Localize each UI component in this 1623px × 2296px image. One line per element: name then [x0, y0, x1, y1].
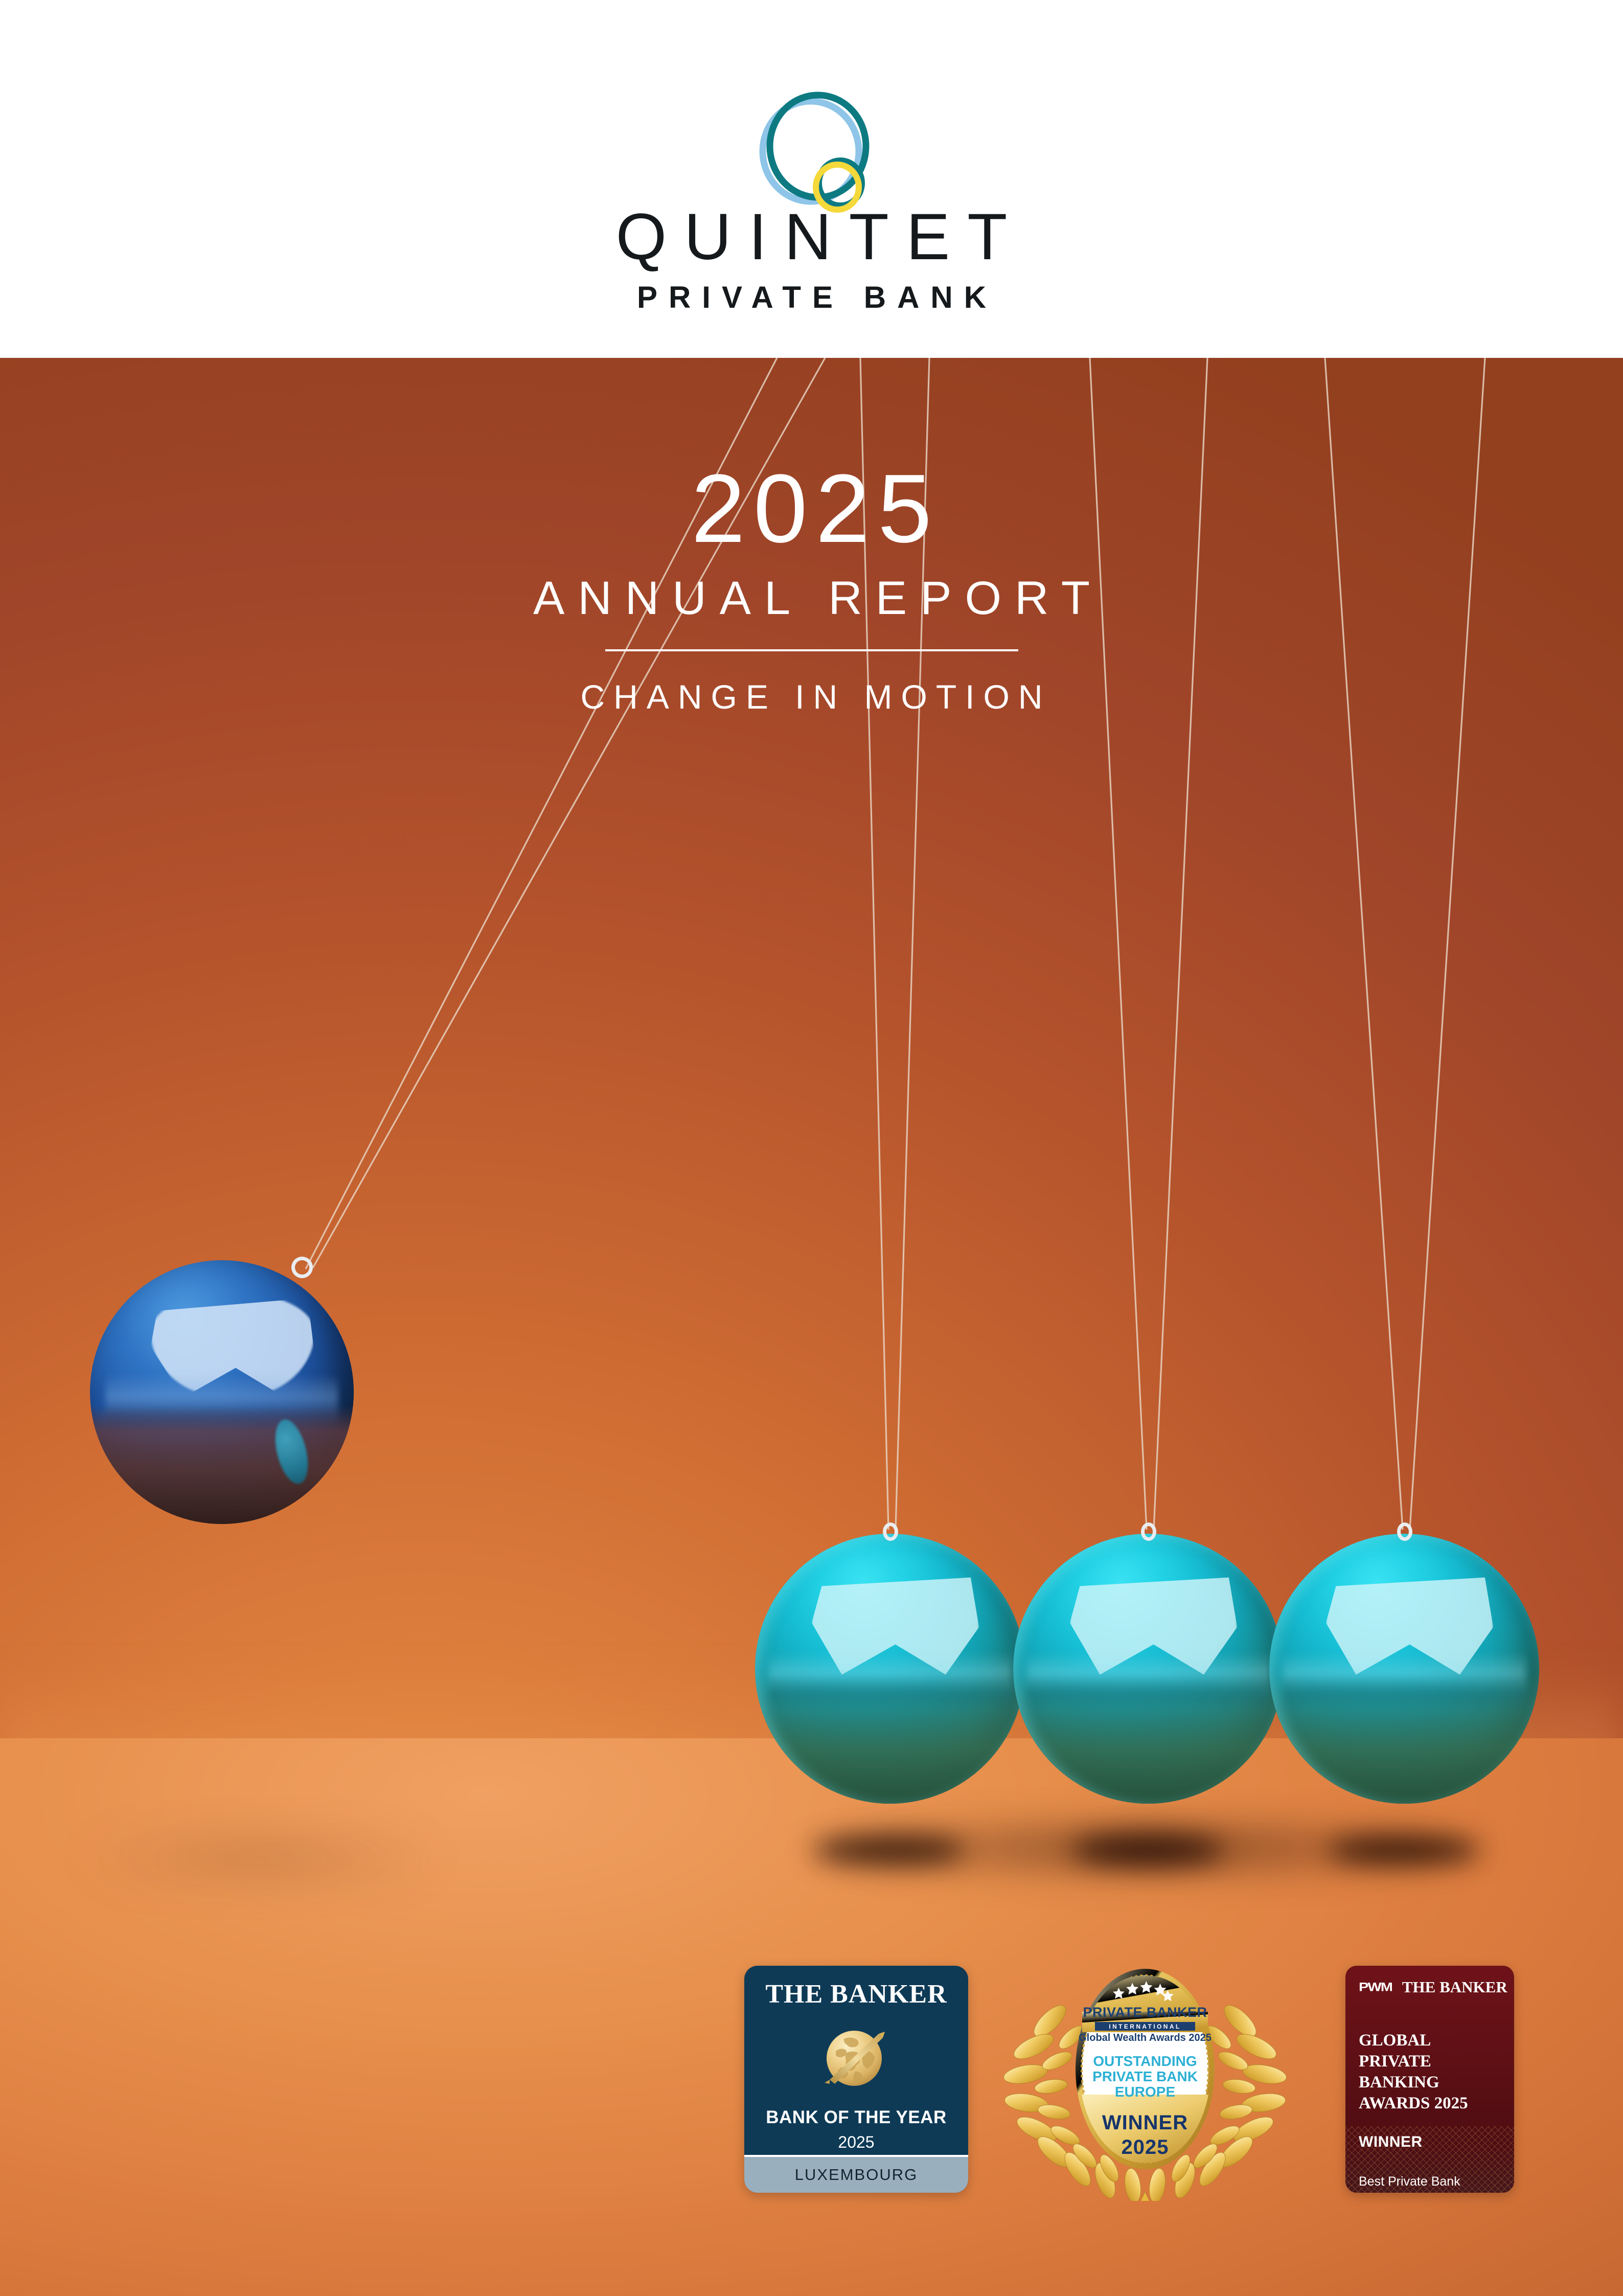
pwm-logo: PWM — [1359, 1980, 1392, 1994]
the-banker-masthead: THE BANKER — [765, 1979, 947, 2009]
ball-rim-light — [755, 1534, 1025, 1804]
brand-wordmark: QUINTET — [0, 204, 1623, 270]
cyan-ball-3 — [1269, 1534, 1539, 1804]
award-badges-row: THE BANKER — [0, 1961, 1623, 2226]
cyan-ball-2 — [1013, 1534, 1283, 1804]
header-band: QUINTET PRIVATE BANK — [0, 0, 1623, 358]
category-line-1: Best Private Bank — [1359, 2173, 1501, 2190]
svg-text:PRIVATE BANKER: PRIVATE BANKER — [1083, 2005, 1207, 2020]
report-subtitle: CHANGE IN MOTION — [0, 680, 1623, 714]
quintet-q-logo-icon — [740, 86, 888, 214]
gold-laurel-medal-icon: PRIVATE BANKER INTERNATIONAL Global Weal… — [997, 1961, 1293, 2201]
the-banker-logo: THE BANKER — [1402, 1978, 1507, 1996]
ball-lower-shade — [90, 1405, 354, 1524]
bank-of-the-year-region: LUXEMBOURG — [744, 2155, 968, 2193]
ball-rim-light — [1269, 1534, 1539, 1804]
ball-shadow-cyan-2 — [1071, 1835, 1224, 1865]
svg-text:PRIVATE BANK: PRIVATE BANK — [1092, 2068, 1198, 2084]
svg-text:OUTSTANDING: OUTSTANDING — [1093, 2053, 1197, 2069]
brand-tagline: PRIVATE BANK — [0, 282, 1623, 313]
report-year: 2025 — [0, 460, 1623, 557]
cover-title-block: 2025 ANNUAL REPORT CHANGE IN MOTION — [0, 460, 1623, 714]
report-title: ANNUAL REPORT — [0, 575, 1623, 622]
annual-report-cover: 2025 ANNUAL REPORT CHANGE IN MOTION THE … — [0, 0, 1623, 2296]
attachment-ring-cyan-2 — [1141, 1522, 1156, 1541]
cyan-ball-1 — [755, 1534, 1025, 1804]
title-divider-rule — [605, 649, 1018, 651]
svg-text:EUROPE: EUROPE — [1115, 2084, 1175, 2100]
category-line-2: Luxembourg — [1359, 2190, 1501, 2193]
attachment-ring-cyan-3 — [1397, 1522, 1412, 1541]
svg-text:Global Wealth Awards 2025: Global Wealth Awards 2025 — [1079, 2032, 1211, 2043]
svg-text:INTERNATIONAL: INTERNATIONAL — [1109, 2023, 1181, 2030]
swinging-blue-ball — [90, 1260, 354, 1524]
ball-rim-light — [1013, 1534, 1283, 1804]
svg-text:WINNER: WINNER — [1102, 2111, 1188, 2134]
award-badge-bank-of-the-year[interactable]: THE BANKER — [744, 1966, 968, 2193]
cover-stage-background: 2025 ANNUAL REPORT CHANGE IN MOTION THE … — [0, 358, 1623, 2296]
award-badge-outstanding-private-bank[interactable]: PRIVATE BANKER INTERNATIONAL Global Weal… — [997, 1961, 1293, 2201]
bank-of-the-year-year: 2025 — [838, 2133, 874, 2152]
attachment-ring-cyan-1 — [883, 1522, 898, 1541]
global-private-banking-result: WINNER — [1359, 2133, 1501, 2151]
svg-text:2025: 2025 — [1122, 2136, 1169, 2158]
ball-shadow-cyan-1 — [813, 1835, 966, 1865]
award-badge-global-private-banking[interactable]: PWM THE BANKER GLOBAL PRIVATE BANKING AW… — [1345, 1966, 1514, 2193]
global-private-banking-title: GLOBAL PRIVATE BANKING AWARDS 2025 — [1359, 2030, 1501, 2114]
ball-shadow-blue — [31, 1840, 491, 1876]
pwm-the-banker-lockup: PWM THE BANKER — [1359, 1978, 1501, 1996]
bank-of-the-year-title: BANK OF THE YEAR — [766, 2107, 947, 2128]
ball-shadow-cyan-3 — [1327, 1835, 1480, 1865]
global-private-banking-category: Best Private Bank Luxembourg — [1359, 2173, 1501, 2193]
gold-globe-icon — [817, 2018, 895, 2096]
